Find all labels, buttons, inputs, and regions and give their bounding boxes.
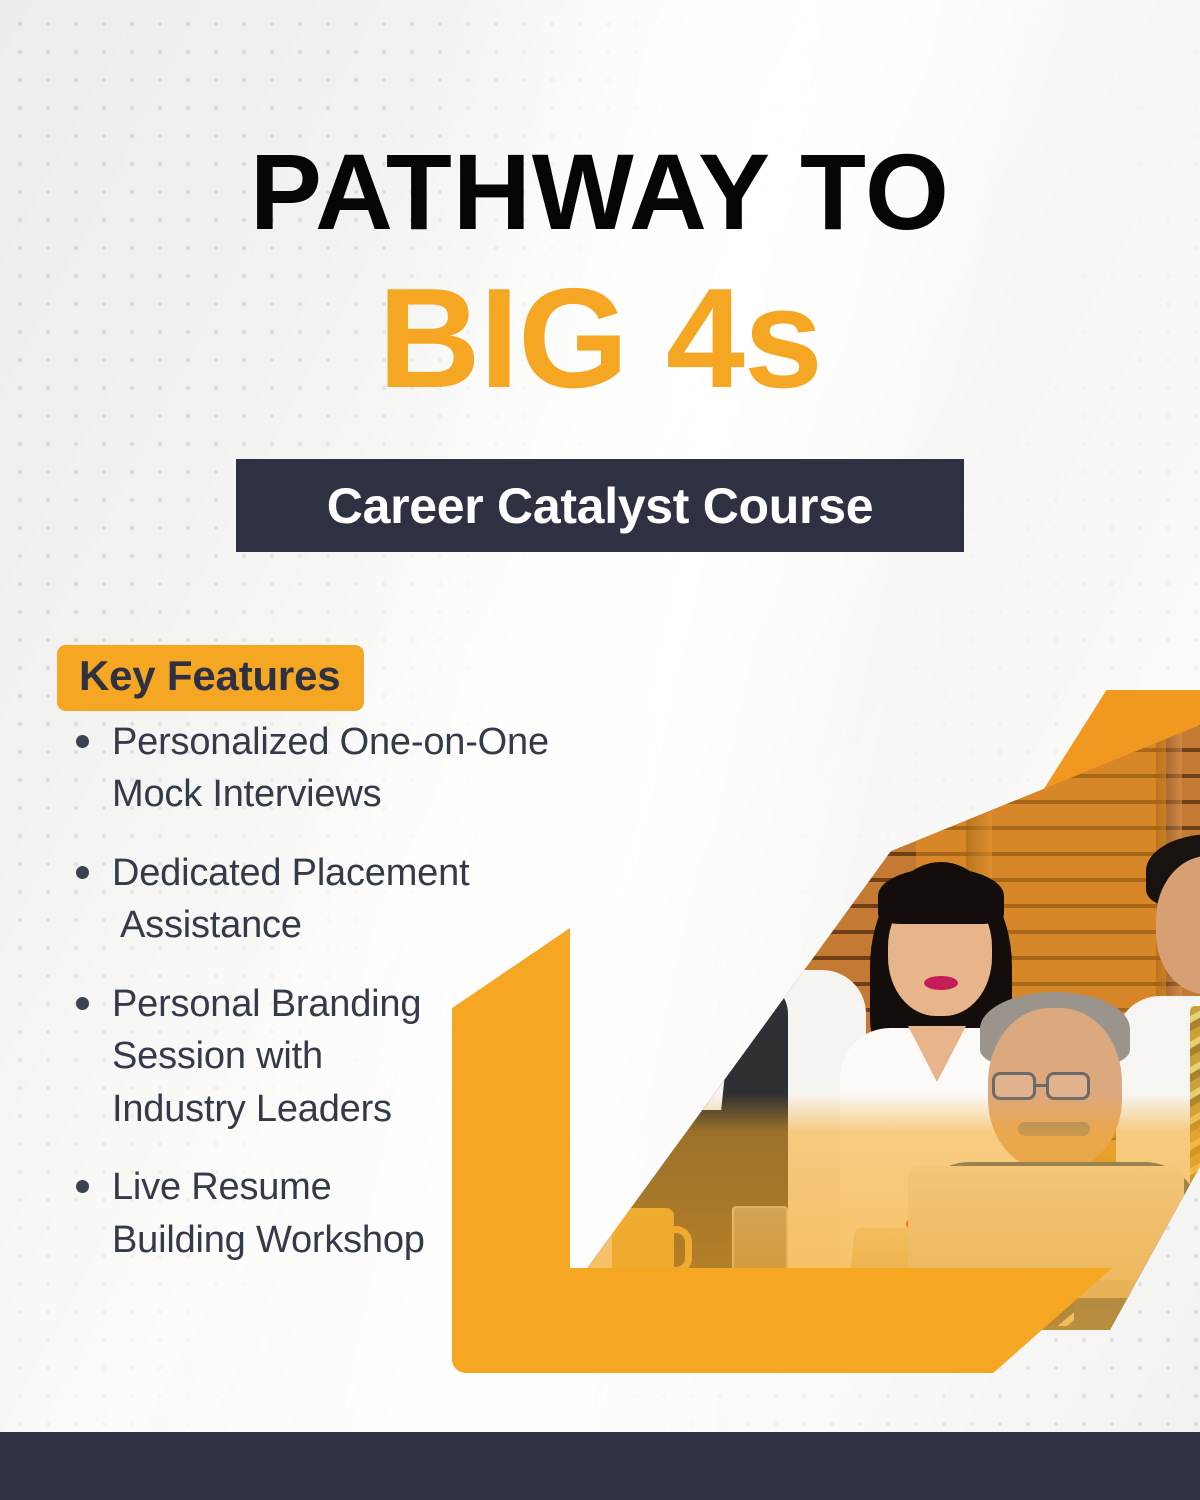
photo-collage xyxy=(0,0,1200,1500)
team-photo xyxy=(556,700,1200,1330)
eyeglasses-bridge xyxy=(1036,1084,1048,1087)
promo-poster: PATHWAY TO BIG 4s Career Catalyst Course… xyxy=(0,0,1200,1500)
orange-band-bottom xyxy=(452,1268,1112,1373)
face xyxy=(644,846,760,986)
footer-bar xyxy=(0,1432,1200,1500)
collar xyxy=(670,966,732,1030)
hair-front xyxy=(878,868,1004,924)
hair xyxy=(634,826,770,912)
team-photo-content xyxy=(556,700,1200,1330)
lips xyxy=(924,976,958,990)
